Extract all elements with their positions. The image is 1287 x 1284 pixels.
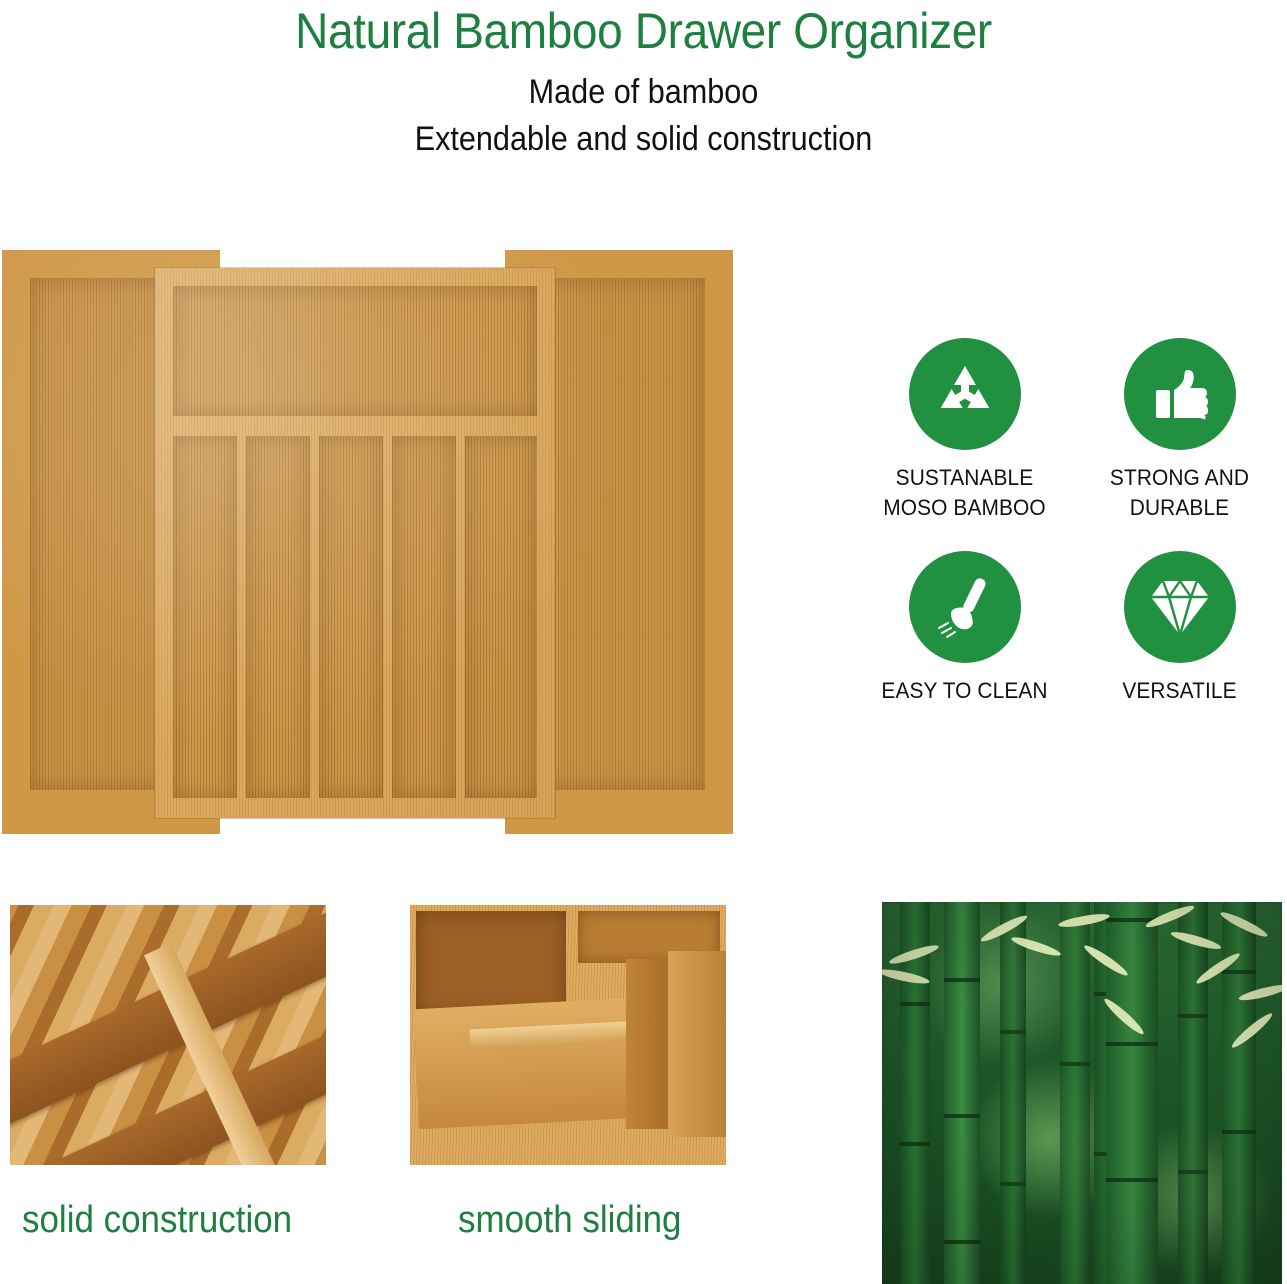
diamond-icon	[1124, 551, 1236, 663]
feature-grid: SUSTANABLE MOSO BAMBOO STRONG AND DURABL…	[862, 338, 1282, 706]
tray-cavity-left	[416, 911, 566, 1016]
tray-compartment-slot-2	[246, 436, 310, 798]
feature-label-line-1: STRONG AND	[1082, 463, 1277, 493]
feature-label-line-2: DURABLE	[1082, 493, 1277, 523]
feature-label-line-1: VERSATILE	[1082, 676, 1277, 706]
slider-post-inner	[626, 959, 672, 1129]
forest-vignette	[882, 902, 1282, 1284]
feature-label: STRONG AND DURABLE	[1082, 463, 1277, 523]
detail-photo-smooth-sliding	[410, 905, 726, 1165]
brush-icon	[909, 551, 1021, 663]
feature-label: SUSTANABLE MOSO BAMBOO	[867, 463, 1062, 523]
subtitle-line-1: Made of bamboo	[64, 60, 1222, 116]
tray-center-body	[155, 268, 555, 818]
tray-compartment-slot-5	[465, 436, 537, 798]
feature-sustainable-moso-bamboo: SUSTANABLE MOSO BAMBOO	[862, 338, 1067, 523]
recycle-icon	[909, 338, 1021, 450]
detail-photo-solid-construction	[10, 905, 326, 1165]
feature-versatile: VERSATILE	[1077, 551, 1282, 706]
bamboo-forest-photo	[882, 902, 1282, 1284]
slider-post-outer	[668, 951, 726, 1137]
tray-compartment-slot-3	[319, 436, 383, 798]
tray-compartment-slot-4	[392, 436, 456, 798]
product-photo-main	[0, 250, 733, 834]
page-title: Natural Bamboo Drawer Organizer	[51, 0, 1235, 60]
subtitle-line-2: Extendable and solid construction	[64, 116, 1222, 163]
caption-solid-construction: solid construction	[22, 1196, 292, 1244]
header: Natural Bamboo Drawer Organizer Made of …	[0, 0, 1287, 163]
feature-label-line-2: MOSO BAMBOO	[867, 493, 1062, 523]
tray-compartment-wide-top	[173, 286, 537, 416]
feature-strong-and-durable: STRONG AND DURABLE	[1077, 338, 1282, 523]
feature-label-line-1: SUSTANABLE	[867, 463, 1062, 493]
feature-label-line-1: EASY TO CLEAN	[867, 676, 1062, 706]
feature-label: VERSATILE	[1082, 676, 1277, 706]
feature-easy-to-clean: EASY TO CLEAN	[862, 551, 1067, 706]
tray-compartment-slot-1	[173, 436, 237, 798]
thumbs-up-icon	[1124, 338, 1236, 450]
caption-smooth-sliding: smooth sliding	[458, 1196, 681, 1244]
feature-label: EASY TO CLEAN	[867, 676, 1062, 706]
